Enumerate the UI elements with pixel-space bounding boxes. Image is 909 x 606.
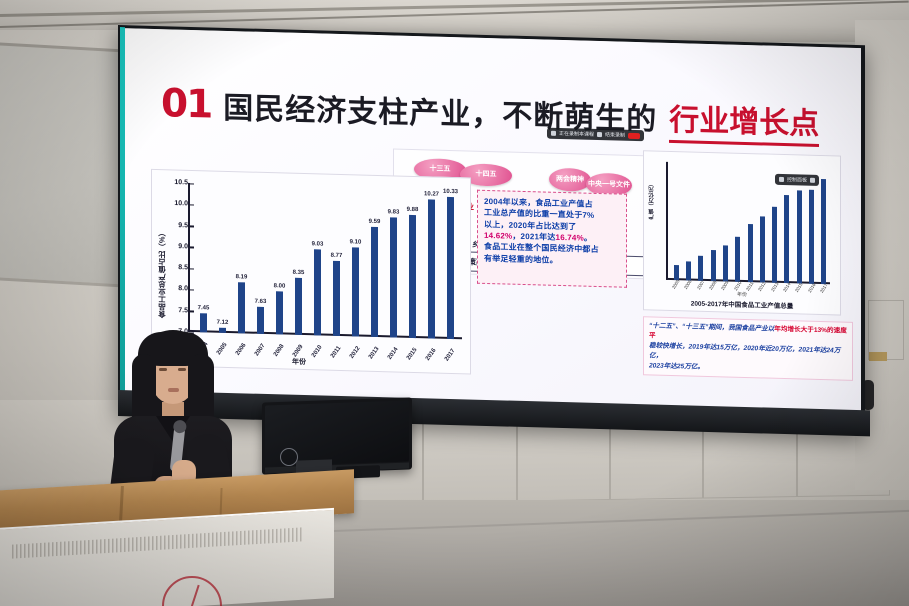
y-tick-label: 7.5	[160, 306, 188, 314]
whiteboard	[0, 42, 127, 287]
callout-line-4-end: 。	[584, 234, 592, 243]
wall-clip	[869, 352, 887, 361]
bar-group: 9.592013	[365, 188, 384, 338]
chart-bar	[238, 283, 245, 334]
bar-value-label: 10.27	[424, 191, 439, 197]
y-tick-label: 8.0	[160, 285, 188, 293]
x-tick-label: 2016	[425, 348, 438, 362]
x-tick-label: 2015	[406, 347, 419, 361]
bar-group: 9.832014	[384, 188, 403, 338]
y-tick-label: 9.5	[160, 221, 188, 229]
chart-bar	[723, 245, 728, 281]
control-panel-toolbar[interactable]: 控制面板	[775, 174, 819, 186]
red-note-1a: “十二五”、“十三五”期间，我国食品产业以	[649, 322, 774, 332]
callout-line-4-mid: ，2021年达	[512, 232, 555, 242]
chart-bar	[686, 261, 691, 280]
slide-title-highlight: 行业增长点	[669, 95, 819, 147]
recording-toolbar-stop-label: 结束录制	[605, 131, 625, 139]
bar-value-label: 8.00	[274, 284, 286, 290]
bar-group: 2007	[695, 163, 707, 281]
bar-group: 8.772011	[327, 187, 346, 337]
bar-group: 2017	[818, 166, 830, 284]
dell-logo-icon	[280, 448, 298, 466]
bar-value-label: 8.19	[236, 275, 248, 281]
x-tick-label: 2007	[254, 343, 267, 357]
bar-group: 2008	[707, 163, 719, 281]
chart-bar	[784, 195, 789, 283]
y-tick-label: 8.5	[160, 264, 188, 272]
y-axis	[666, 162, 668, 280]
x-tick-label: 2014	[387, 347, 400, 361]
x-tick-label: 2010	[311, 344, 324, 358]
bar-group: 7.452004	[194, 183, 213, 333]
control-panel-label: 控制面板	[787, 176, 807, 184]
bar-value-label: 7.45	[198, 305, 210, 311]
bar-group: 2011	[744, 164, 756, 282]
wall-notice-panel	[868, 300, 904, 360]
chart-bar	[821, 179, 826, 284]
bar-group: 2010	[732, 164, 744, 282]
y-tick-label: 9.0	[160, 242, 188, 250]
chart-bar	[748, 225, 753, 283]
chart-bar	[295, 277, 302, 335]
chart-bar	[333, 260, 340, 336]
bar-value-label: 9.03	[312, 241, 324, 247]
bar-group: 9.102012	[346, 187, 365, 337]
toolbar-icon	[551, 131, 556, 136]
callout-line-6: 有举足轻重的地位。	[484, 253, 620, 268]
chart-bar	[735, 237, 740, 282]
stop-recording-button[interactable]	[628, 132, 640, 138]
bar-value-label: 9.10	[350, 239, 362, 245]
lecture-hall-photo: 01 国民经济支柱产业，不断萌生的 行业增长点 十三五 十四五 两会精神 中央一…	[0, 0, 909, 606]
chart-bar	[772, 207, 777, 283]
recording-toolbar-label: 正在录制本课程	[559, 130, 594, 138]
bar-group: 10.332017	[441, 190, 460, 340]
presenter-mouth	[168, 388, 179, 392]
bar-group: 8.002008	[270, 185, 289, 335]
x-tick-label: 2011	[330, 345, 342, 359]
callout-pct-2021: 16.74%	[556, 233, 584, 243]
chart-bar	[371, 227, 378, 337]
bar-group: 7.632007	[251, 185, 270, 335]
chart-bar	[711, 250, 716, 281]
x-tick-label: 2012	[349, 346, 362, 360]
section-number: 01	[161, 81, 211, 127]
callout-box: 2004年以来，食品工业产值占 工业总产值的比重一直处于7% 以上，2020年占…	[477, 190, 627, 288]
chart-bar	[276, 292, 283, 335]
red-note-2b: 2020年近20万亿，	[744, 345, 799, 353]
bar-group: 7.122005	[213, 184, 232, 334]
panel-icon	[810, 178, 815, 183]
bar-value-label: 8.77	[331, 252, 343, 258]
chart-bar	[409, 215, 416, 338]
chart-bar	[760, 217, 765, 283]
red-note-box: “十二五”、“十三五”期间，我国食品产业以年均增长大于13%的速度平 稳较快增长…	[643, 316, 853, 381]
y-tick-label: 10.0	[160, 200, 188, 208]
y-tick-label: 10.5	[160, 179, 188, 187]
bar-group: 8.352009	[289, 186, 308, 336]
bar-group: 9.032010	[308, 186, 327, 336]
chart-bar	[314, 249, 321, 336]
left-chart-bars: 7.4520047.1220058.1920067.6320078.002008…	[192, 183, 462, 339]
red-note-3: 2023年达25万亿。	[649, 362, 704, 370]
chart-bar	[698, 256, 703, 281]
right-chart-ylabel: 产值（万亿元）	[648, 181, 656, 220]
bar-value-label: 10.33	[443, 189, 458, 195]
chart-bar	[390, 217, 397, 338]
chart-bar	[797, 190, 802, 283]
bar-group: 9.882015	[403, 189, 422, 339]
bar-value-label: 7.12	[217, 320, 229, 326]
bar-value-label: 7.63	[255, 299, 267, 305]
policy-oval-3: 两会精神	[549, 168, 591, 192]
red-note-2a: 稳较快增长，2019年达15万亿，	[649, 342, 744, 352]
bar-value-label: 9.88	[407, 207, 419, 213]
chart-bar	[428, 199, 435, 338]
callout-pct-2020: 14.62%	[484, 231, 512, 241]
bar-group: 2006	[682, 162, 694, 280]
chart-bar	[352, 247, 359, 337]
slide-title: 01 国民经济支柱产业，不断萌生的 行业增长点	[161, 81, 819, 147]
bar-value-label: 9.59	[369, 219, 381, 225]
bar-group: 10.272016	[422, 189, 441, 339]
toolbar-icon	[597, 132, 602, 137]
left-chart-plot: 7.4520047.1220058.1920067.6320078.002008…	[192, 183, 462, 339]
panel-icon	[779, 177, 784, 182]
bar-value-label: 8.35	[293, 269, 305, 275]
bar-group: 2005	[670, 162, 682, 280]
chart-bar	[809, 189, 814, 284]
bar-group: 2009	[719, 163, 731, 281]
left-chart-xlabel: 年份	[292, 357, 306, 367]
bar-value-label: 9.83	[388, 209, 400, 215]
chart-bar	[257, 307, 264, 334]
chart-bar	[447, 197, 454, 339]
x-tick-label: 2008	[273, 343, 286, 357]
bar-group: 2012	[756, 164, 768, 282]
bar-group: 8.192006	[232, 184, 251, 334]
x-tick-label: 2013	[368, 346, 381, 360]
x-tick-label: 2017	[444, 348, 457, 362]
